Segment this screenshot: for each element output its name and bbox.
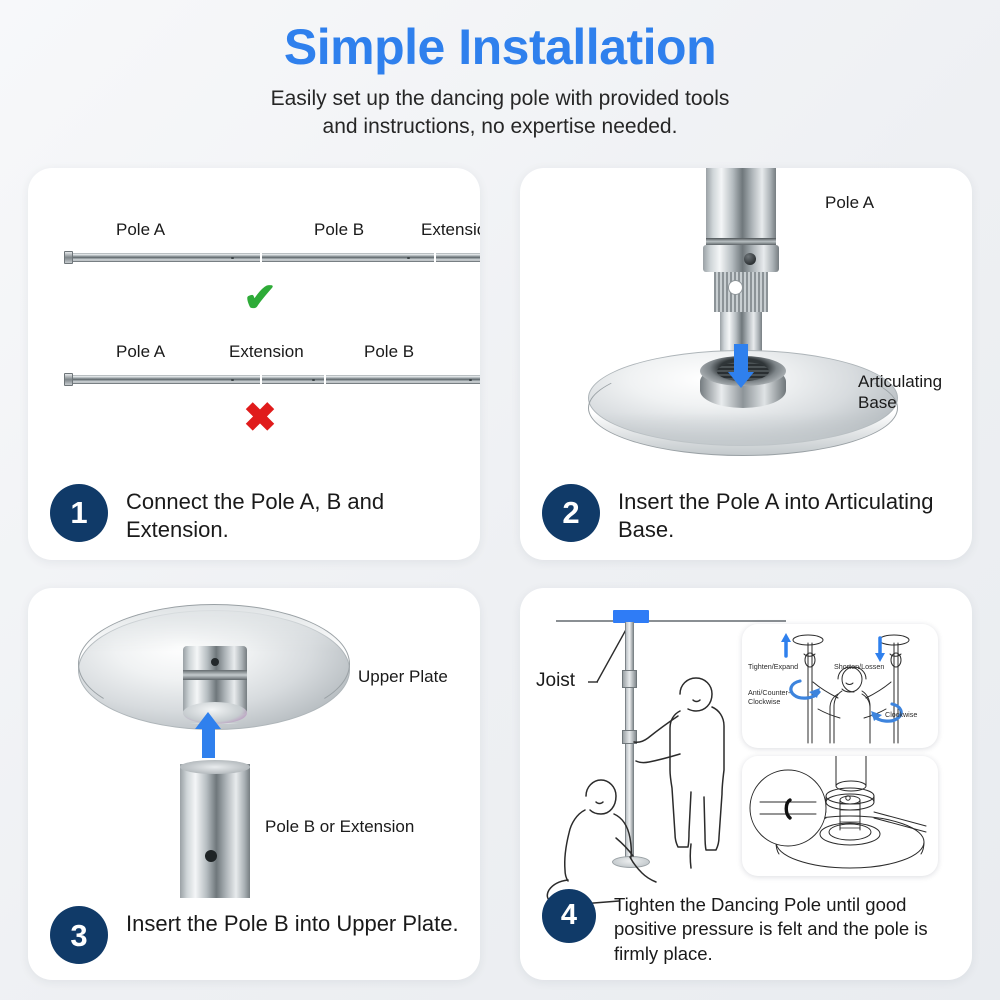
articulating-base-label: Articulating Base [858, 371, 942, 414]
correct-order-labels: Pole A Pole B Extension [64, 220, 456, 242]
insert-arrow-head-icon [195, 712, 221, 729]
step-footer-4: 4 Tighten the Dancing Pole until good po… [542, 889, 958, 966]
incorrect-label-0: Pole A [116, 342, 165, 362]
pole-segment-b [262, 253, 434, 262]
incorrect-pole-assembly [64, 372, 456, 386]
pole-segment-extension [436, 253, 480, 262]
pole-b-label: Pole B or Extension [265, 816, 414, 837]
step-description: Connect the Pole A, B and Extension. [126, 484, 466, 544]
hub-screw-icon [211, 658, 219, 666]
step-number-badge: 3 [50, 906, 108, 964]
rotation-inset-art [742, 624, 938, 748]
step-card-3: Upper Plate Pole B or Extension 3 Insert… [28, 588, 480, 980]
pole-segment-a [73, 253, 260, 262]
step-card-1: Pole A Pole B Extension ✔ Pole A Extensi… [28, 168, 480, 560]
shaft-hole-icon [728, 280, 743, 295]
pole-segment-b [326, 375, 480, 384]
step-number-badge: 1 [50, 484, 108, 542]
incorrect-label-2: Pole B [364, 342, 414, 362]
pole-segment-a [73, 375, 260, 384]
pole-endcap-icon [64, 373, 73, 386]
upper-plate-label: Upper Plate [358, 666, 448, 687]
step-footer-1: 1 Connect the Pole A, B and Extension. [50, 484, 466, 544]
step-description: Tighten the Dancing Pole until good posi… [614, 889, 958, 966]
rotation-inset: Tighten/Expand Anti/Counter- Clockwise S… [742, 624, 938, 748]
step-card-4: Joist [520, 588, 972, 980]
incorrect-label-1: Extension [229, 342, 304, 362]
incorrect-order-labels: Pole A Extension Pole B [64, 342, 456, 364]
upper-plate-diagram: Upper Plate Pole B or Extension [28, 588, 480, 898]
tighten-expand-label: Tighten/Expand [748, 662, 798, 671]
steps-grid: Pole A Pole B Extension ✔ Pole A Extensi… [28, 168, 972, 980]
installation-scene-diagram: Joist [520, 588, 972, 888]
anti-clockwise-label: Anti/Counter- Clockwise [748, 688, 790, 706]
step-description: Insert the Pole A into Articulating Base… [618, 484, 958, 544]
correct-pole-assembly [64, 250, 456, 264]
step-footer-2: 2 Insert the Pole A into Articulating Ba… [542, 484, 958, 544]
insert-arrow-head-icon [728, 372, 754, 388]
base-detail-inset [742, 756, 938, 876]
insert-arrow-shaft [202, 728, 215, 758]
pole-a-ring [706, 238, 776, 245]
pole-a-body [706, 168, 776, 240]
step-footer-3: 3 Insert the Pole B into Upper Plate. [50, 906, 466, 964]
articulating-base-diagram: Pole A Articulating Base [520, 168, 972, 468]
pole-b-hole-icon [205, 850, 217, 862]
pole-b-top-edge [180, 760, 250, 774]
base-detail-art [742, 756, 938, 876]
pole-segment-extension [262, 375, 324, 384]
step-card-2: Pole A Articulating Base 2 Insert the Po… [520, 168, 972, 560]
red-cross-icon: ✖ [243, 396, 277, 440]
subtitle-line-1: Easily set up the dancing pole with prov… [0, 85, 1000, 113]
correct-label-1: Pole B [314, 220, 364, 240]
pole-a-label: Pole A [825, 192, 874, 213]
step-description: Insert the Pole B into Upper Plate. [126, 906, 459, 938]
insert-arrow-shaft [734, 344, 748, 374]
pole-order-diagram: Pole A Pole B Extension ✔ Pole A Extensi… [64, 220, 456, 438]
collar-screw-icon [744, 253, 756, 265]
shorten-loosen-label: Shorten/Lossen [834, 662, 884, 671]
header: Simple Installation Easily set up the da… [0, 0, 1000, 140]
pole-collar [703, 245, 779, 272]
subtitle-line-2: and instructions, no expertise needed. [0, 113, 1000, 141]
correct-label-0: Pole A [116, 220, 165, 240]
step-number-badge: 4 [542, 889, 596, 943]
clockwise-label: Clockwise [885, 710, 917, 719]
green-check-icon: ✔ [243, 276, 277, 320]
pole-b-body [180, 764, 250, 898]
hub-groove [183, 670, 247, 680]
step-number-badge: 2 [542, 484, 600, 542]
correct-label-2: Extension [421, 220, 480, 240]
pole-endcap-icon [64, 251, 73, 264]
subtitle: Easily set up the dancing pole with prov… [0, 85, 1000, 140]
page-title: Simple Installation [0, 20, 1000, 75]
